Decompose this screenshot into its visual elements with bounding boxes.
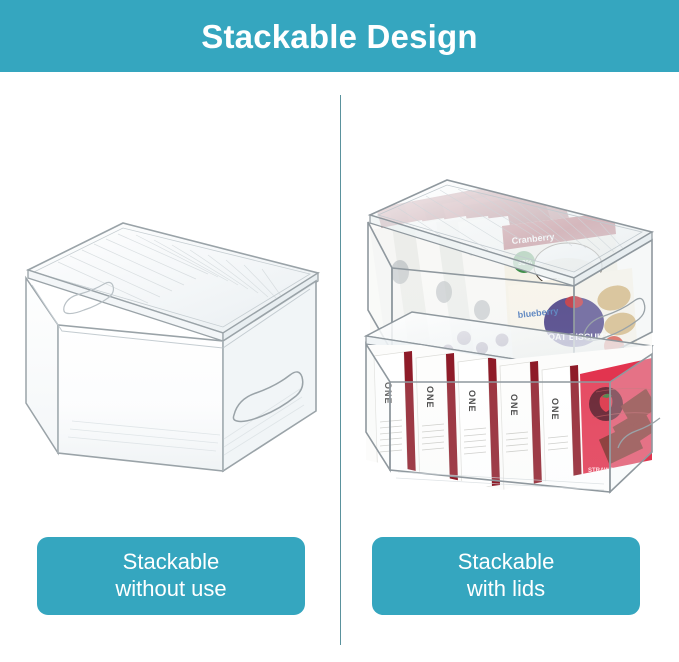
caption-right-text-1: Stackable: [458, 549, 555, 574]
caption-right-lines: Stackable with lids: [450, 549, 563, 603]
caption-left-text-2: without use: [115, 576, 226, 601]
product-image-single-bin: [18, 215, 323, 485]
header-banner: Stackable Design: [0, 0, 679, 72]
product-image-stacked-bins: Cranberry Biscuits 33%: [352, 160, 670, 510]
caption-left-line1: Stackable without use: [107, 549, 234, 603]
caption-pill-right: Stackable with lids: [372, 537, 640, 615]
page-title: Stackable Design: [201, 20, 477, 53]
infographic-page: Stackable Design: [0, 0, 679, 662]
caption-right-text-2: with lids: [467, 576, 545, 601]
caption-left-text-1: Stackable: [123, 549, 220, 574]
caption-pill-left: Stackable without use: [37, 537, 305, 615]
